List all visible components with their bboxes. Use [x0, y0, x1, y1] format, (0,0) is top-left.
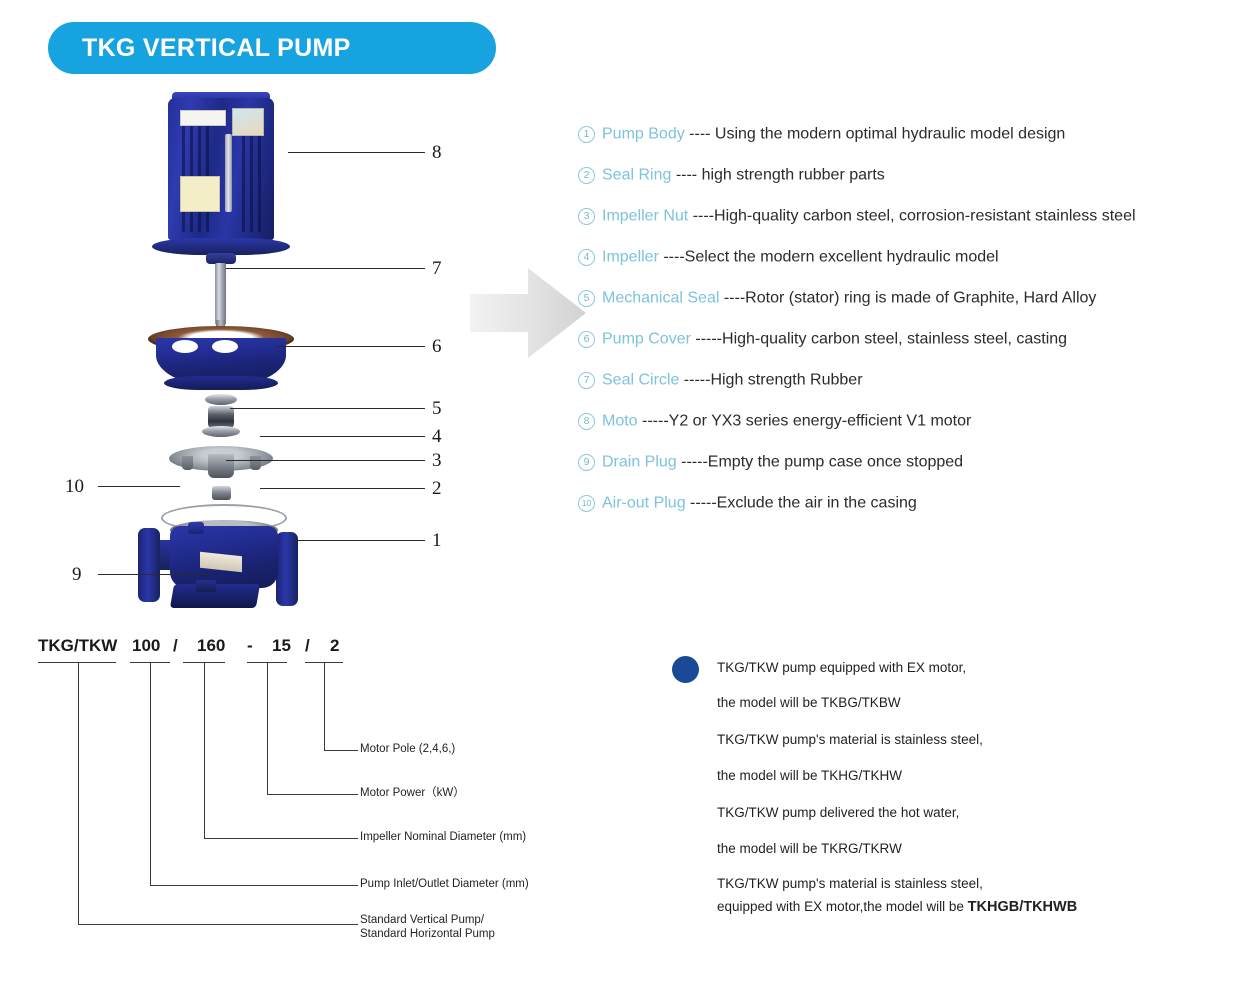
- motor-shaft: [215, 263, 226, 325]
- part-desc-4: ----Select the modern excellent hydrauli…: [659, 249, 999, 266]
- nomenclature-label-power: Motor Power（kW）: [360, 786, 465, 802]
- callout-line-5: [230, 408, 425, 409]
- note-line-3: TKG/TKW pump's material is stainless ste…: [717, 732, 983, 747]
- callout-line-3: [226, 460, 425, 461]
- pump-cover-foot: [164, 376, 278, 390]
- note-line-8-model: TKHGB/TKHWB: [968, 899, 1078, 915]
- code-separator-2: -: [247, 636, 253, 656]
- note-line-1: TKG/TKW pump equipped with EX motor,: [717, 660, 966, 675]
- part-name-2: Seal Ring: [602, 167, 671, 184]
- note-line-6: the model will be TKRG/TKRW: [717, 841, 902, 856]
- part-number-icon-4: 4: [578, 249, 595, 266]
- part-name-5: Mechanical Seal: [602, 290, 719, 307]
- part-number-icon-6: 6: [578, 331, 595, 348]
- part-list-item-6: 6Pump Cover -----High-quality carbon ste…: [578, 331, 1067, 348]
- motor-nameplate-lower: [180, 176, 220, 212]
- callout-line-6: [276, 346, 425, 347]
- part-number-icon-2: 2: [578, 167, 595, 184]
- callout-number-2: 2: [432, 478, 442, 500]
- impeller-hub: [208, 454, 234, 478]
- part-name-10: Air-out Plug: [602, 495, 686, 512]
- part-list-item-7: 7Seal Circle -----High strength Rubber: [578, 372, 863, 389]
- pump-inlet-flange: [138, 528, 160, 602]
- mechanical-seal-washer-lower: [202, 426, 240, 437]
- note-line-4: the model will be TKHG/TKHW: [717, 768, 902, 783]
- part-desc-10: -----Exclude the air in the casing: [686, 495, 917, 512]
- motor-nameplate-top: [180, 110, 226, 126]
- callout-number-5: 5: [432, 398, 442, 420]
- part-name-6: Pump Cover: [602, 331, 691, 348]
- part-number-icon-3: 3: [578, 208, 595, 225]
- air-out-plug: [188, 522, 204, 534]
- part-desc-6: -----High-quality carbon steel, stainles…: [691, 331, 1067, 348]
- note-line-2: the model will be TKBG/TKBW: [717, 695, 901, 710]
- leader-h-impeller: [204, 838, 358, 839]
- note-line-8: equipped with EX motor,the model will be…: [717, 899, 1077, 915]
- drain-plug: [196, 580, 216, 592]
- note-line-5: TKG/TKW pump delivered the hot water,: [717, 805, 959, 820]
- callout-number-3: 3: [432, 450, 442, 472]
- part-list-item-10: 10Air-out Plug -----Exclude the air in t…: [578, 495, 917, 512]
- part-number-icon-8: 8: [578, 413, 595, 430]
- part-name-9: Drain Plug: [602, 454, 677, 471]
- code-segment-series: TKG/TKW: [38, 636, 117, 656]
- right-arrow-icon: [470, 258, 590, 368]
- leader-v-impeller: [204, 662, 205, 838]
- part-desc-1: ---- Using the modern optimal hydraulic …: [685, 126, 1066, 143]
- callout-number-1: 1: [432, 530, 442, 552]
- part-number-icon-10: 10: [578, 495, 595, 512]
- part-list-item-4: 4Impeller ----Select the modern excellen…: [578, 249, 999, 266]
- leader-h-series: [78, 924, 358, 925]
- part-desc-7: -----High strength Rubber: [679, 372, 862, 389]
- motor-body-image: [168, 98, 274, 240]
- note-line-7: TKG/TKW pump's material is stainless ste…: [717, 876, 983, 891]
- part-list-item-3: 3Impeller Nut ----High-quality carbon st…: [578, 208, 1136, 225]
- code-separator-1: /: [173, 636, 178, 656]
- part-list-item-2: 2Seal Ring ---- high strength rubber par…: [578, 167, 885, 184]
- mechanical-seal-core: [208, 406, 234, 428]
- nomenclature-label-pole: Motor Pole (2,4,6,): [360, 742, 455, 758]
- part-name-1: Pump Body: [602, 126, 685, 143]
- pump-cover-port-left: [172, 340, 198, 353]
- part-list-item-9: 9Drain Plug -----Empty the pump case onc…: [578, 454, 963, 471]
- part-list-item-1: 1Pump Body ---- Using the modern optimal…: [578, 126, 1065, 143]
- code-segment-impeller: 160: [197, 636, 225, 656]
- code-segment-inlet: 100: [132, 636, 160, 656]
- callout-number-4: 4: [432, 426, 442, 448]
- callout-number-7: 7: [432, 258, 442, 280]
- part-desc-2: ---- high strength rubber parts: [671, 167, 884, 184]
- nomenclature-label-series-2: Standard Horizontal Pump: [360, 927, 495, 943]
- callout-line-2: [260, 488, 425, 489]
- nomenclature-label-inlet: Pump Inlet/Outlet Diameter (mm): [360, 877, 529, 893]
- nomenclature-label-impeller: Impeller Nominal Diameter (mm): [360, 830, 526, 846]
- callout-line-9: [98, 574, 210, 575]
- leader-v-series: [78, 662, 79, 924]
- code-segment-pole: 2: [330, 636, 339, 656]
- part-name-4: Impeller: [602, 249, 659, 266]
- callout-number-6: 6: [432, 336, 442, 358]
- part-name-3: Impeller Nut: [602, 208, 688, 225]
- leader-h-power: [267, 794, 358, 795]
- impeller-nut: [212, 486, 231, 500]
- leader-h-inlet: [150, 885, 358, 886]
- exploded-pump-diagram: 8 7 6 5 4 3 2 1 10 9: [60, 88, 480, 598]
- part-list-item-8: 8Moto -----Y2 or YX3 series energy-effic…: [578, 413, 971, 430]
- part-desc-3: ----High-quality carbon steel, corrosion…: [688, 208, 1135, 225]
- motor-nameplate-side: [232, 108, 264, 136]
- mechanical-seal-washer-upper: [205, 394, 237, 405]
- part-list-item-5: 5Mechanical Seal ----Rotor (stator) ring…: [578, 290, 1096, 307]
- leader-h-pole: [324, 750, 358, 751]
- callout-line-7: [226, 268, 425, 269]
- part-number-icon-9: 9: [578, 454, 595, 471]
- part-name-7: Seal Circle: [602, 372, 679, 389]
- pump-outlet-flange: [276, 532, 298, 606]
- code-segment-power: 15: [272, 636, 291, 656]
- leader-v-power: [267, 662, 268, 794]
- part-name-8: Moto: [602, 413, 638, 430]
- underline-series: [38, 662, 116, 663]
- callout-line-4: [260, 436, 425, 437]
- leader-v-inlet: [150, 662, 151, 885]
- part-number-icon-7: 7: [578, 372, 595, 389]
- callout-line-8: [288, 152, 425, 153]
- callout-line-10: [98, 486, 180, 487]
- callout-number-10: 10: [65, 476, 84, 498]
- callout-number-9: 9: [72, 564, 82, 586]
- model-nomenclature-diagram: TKG/TKW 100 / 160 - 15 / 2 Motor Pole (2…: [20, 628, 620, 968]
- callout-number-8: 8: [432, 142, 442, 164]
- part-desc-9: -----Empty the pump case once stopped: [677, 454, 963, 471]
- part-number-icon-1: 1: [578, 126, 595, 143]
- pump-cover-port-right: [212, 340, 238, 353]
- code-separator-3: /: [305, 636, 310, 656]
- part-number-icon-5: 5: [578, 290, 595, 307]
- page-title: TKG VERTICAL PUMP: [48, 34, 351, 63]
- part-desc-5: ----Rotor (stator) ring is made of Graph…: [719, 290, 1096, 307]
- leader-v-pole: [324, 662, 325, 750]
- note-line-8-text: equipped with EX motor,the model will be: [717, 899, 968, 914]
- bullet-icon: [672, 656, 699, 683]
- page-title-banner: TKG VERTICAL PUMP: [48, 22, 496, 74]
- callout-line-1: [294, 540, 425, 541]
- part-desc-8: -----Y2 or YX3 series energy-efficient V…: [638, 413, 972, 430]
